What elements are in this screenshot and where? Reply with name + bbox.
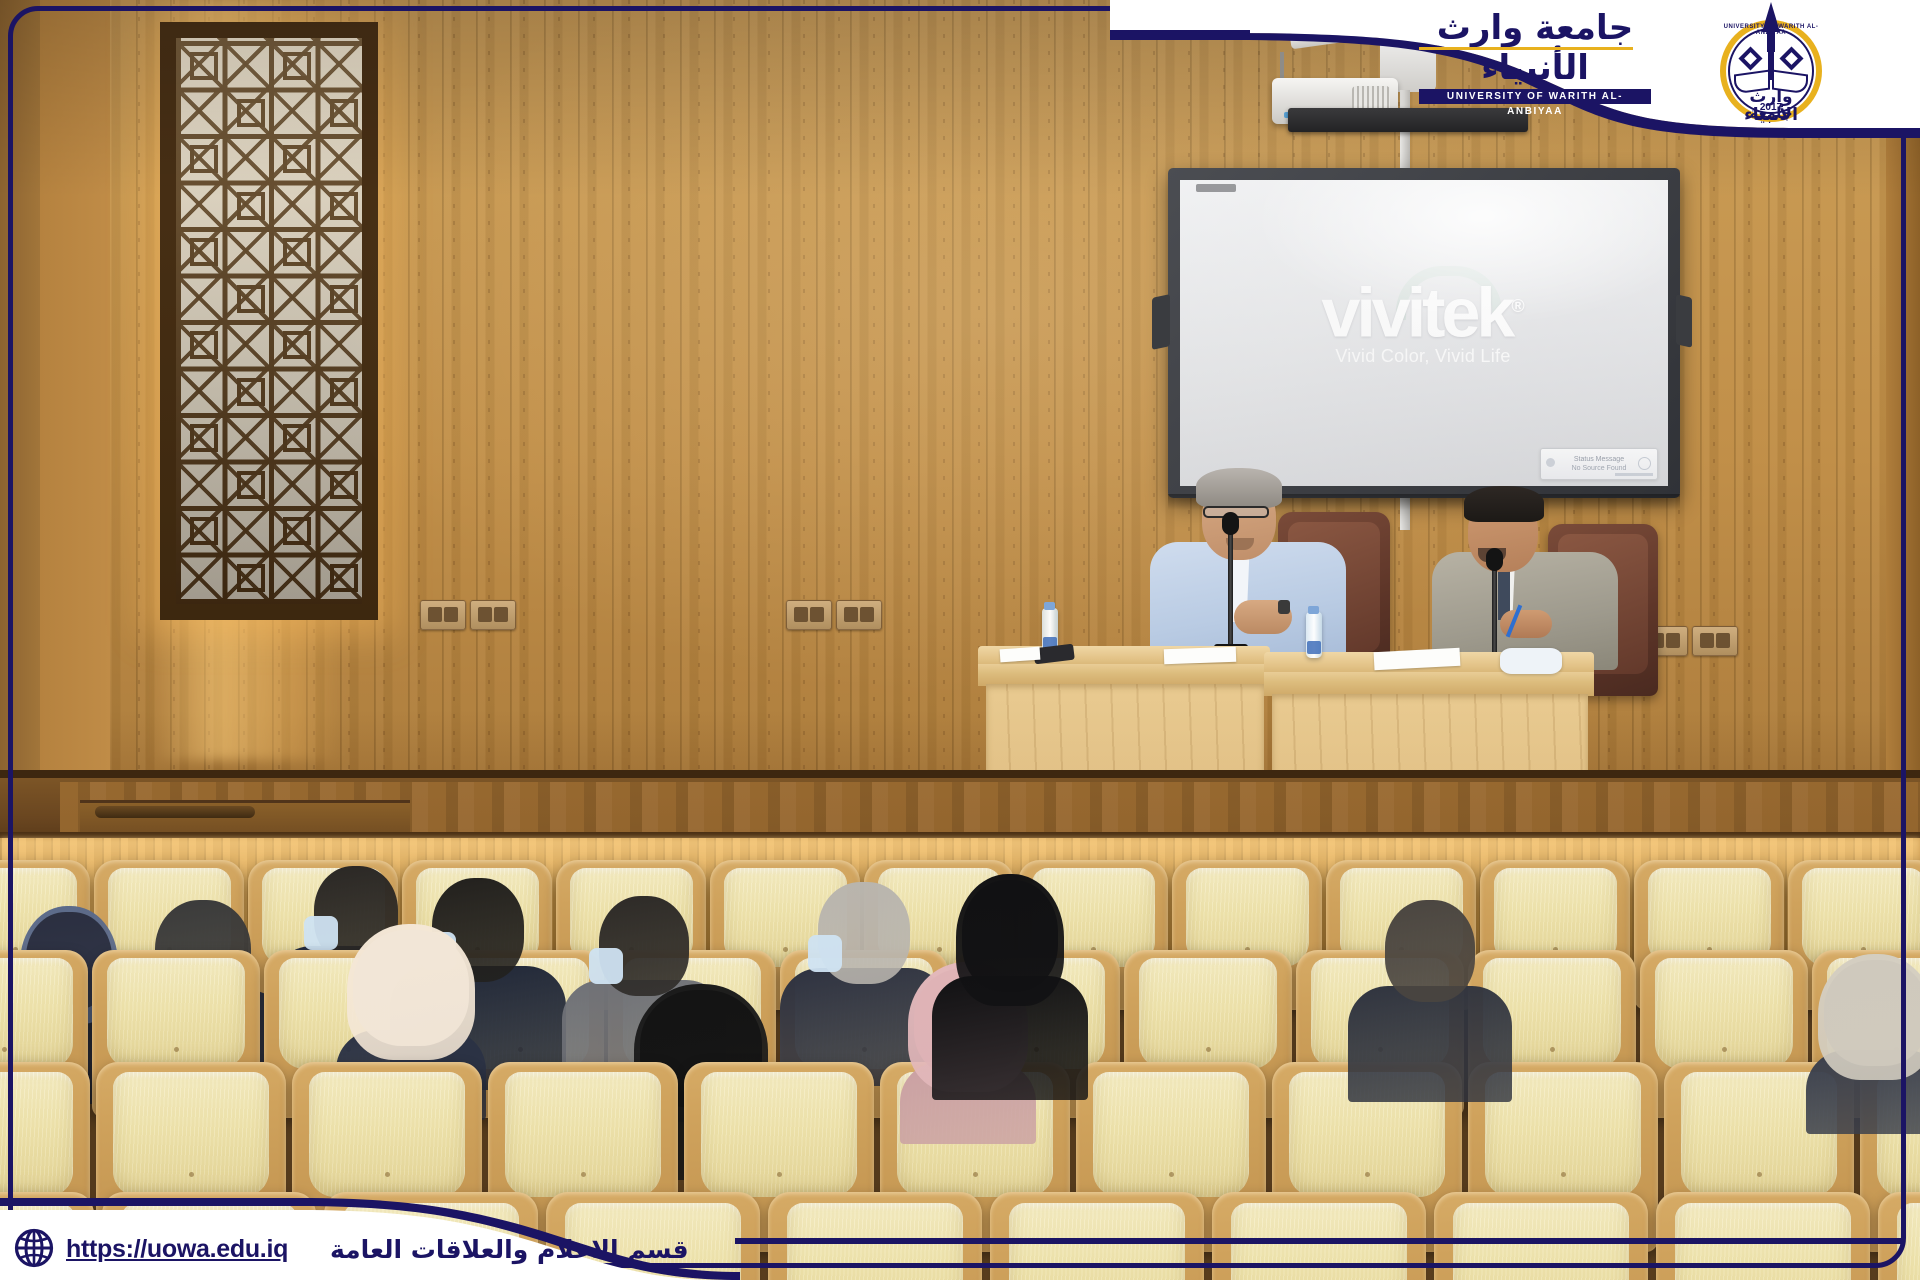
power-socket <box>786 600 832 630</box>
whiteboard-pen-left <box>1152 294 1170 350</box>
footer-navy-rule <box>735 1238 1905 1244</box>
water-bottle-cap-left <box>1044 602 1055 610</box>
attendee-face-mask <box>304 916 338 951</box>
speaker-left-wristwatch <box>1278 600 1290 614</box>
wordmark-english: UNIVERSITY OF WARITH AL-ANBIYAA <box>1419 89 1651 119</box>
seat-cushion <box>1093 1072 1249 1197</box>
seat-cushion <box>309 1072 465 1197</box>
microphone-head-right <box>1486 548 1503 571</box>
website-url-link[interactable]: https://uowa.edu.iq <box>66 1232 288 1266</box>
water-bottle-right <box>1306 612 1322 658</box>
university-wordmark: جامعة وارث الأنبياء UNIVERSITY OF WARITH… <box>1410 8 1660 70</box>
seat-cushion <box>0 958 73 1069</box>
wordmark-gold-rule <box>1419 47 1633 50</box>
speaker-right-hair <box>1464 486 1544 522</box>
wordmark-navy-bar: UNIVERSITY OF WARITH AL-ANBIYAA <box>1419 89 1651 104</box>
globe-icon <box>14 1228 54 1268</box>
university-emblem: UNIVERSITY OF WARITH AL-ANBIYAA وارث الأ… <box>1710 2 1832 128</box>
seat-cushion <box>505 1072 661 1197</box>
paper-sheet <box>1000 647 1041 663</box>
attendee-head <box>1385 900 1475 1002</box>
whiteboard-pen-right <box>1676 294 1692 347</box>
desk-right-edge <box>1264 672 1594 696</box>
attendee-face-mask <box>808 935 842 972</box>
speaker-left-hair <box>1196 468 1282 508</box>
screen-glare <box>1180 180 1668 486</box>
header-navy-dash <box>1110 30 1250 36</box>
paper-sheet <box>1164 647 1236 665</box>
audience-attendee <box>1806 960 1920 1150</box>
audience-attendee <box>932 880 1088 1116</box>
attendee-head <box>353 930 469 1046</box>
seat-cushion <box>107 958 245 1069</box>
attendee-shoulders <box>1348 986 1512 1102</box>
desk-left-edge <box>978 664 1270 686</box>
power-socket <box>420 600 466 630</box>
department-name-arabic: قسم الاعلام والعلاقات العامة <box>330 1232 689 1268</box>
face-mask-on-desk <box>1500 648 1562 674</box>
header-branding-bar: جامعة وارث الأنبياء UNIVERSITY OF WARITH… <box>1110 0 1920 128</box>
water-bottle-cap-right <box>1308 606 1319 614</box>
power-socket <box>1692 626 1738 656</box>
attendee-face-mask <box>589 948 623 984</box>
stage-handrail <box>95 806 255 818</box>
audience-attendee <box>1348 900 1512 1118</box>
microphone-stand-left <box>1228 530 1233 646</box>
microphone-head-left <box>1222 512 1239 535</box>
footer-branding-bar: https://uowa.edu.iq قسم الاعلام والعلاقا… <box>0 1188 1920 1280</box>
seat-cushion <box>0 1072 73 1197</box>
attendee-head <box>962 880 1058 992</box>
power-socket <box>836 600 882 630</box>
seat-cushion <box>1655 958 1793 1069</box>
seat-cushion <box>1139 958 1277 1069</box>
power-socket <box>470 600 516 630</box>
seat-cushion <box>701 1072 857 1197</box>
attendee-head <box>1824 960 1920 1066</box>
screenshot-root: vivitek® Vivid Color, Vivid Life Status … <box>0 0 1920 1280</box>
seat-cushion <box>113 1072 269 1197</box>
emblem-founding-year: 2017 <box>1750 102 1792 113</box>
event-photograph: vivitek® Vivid Color, Vivid Life Status … <box>0 0 1920 1280</box>
